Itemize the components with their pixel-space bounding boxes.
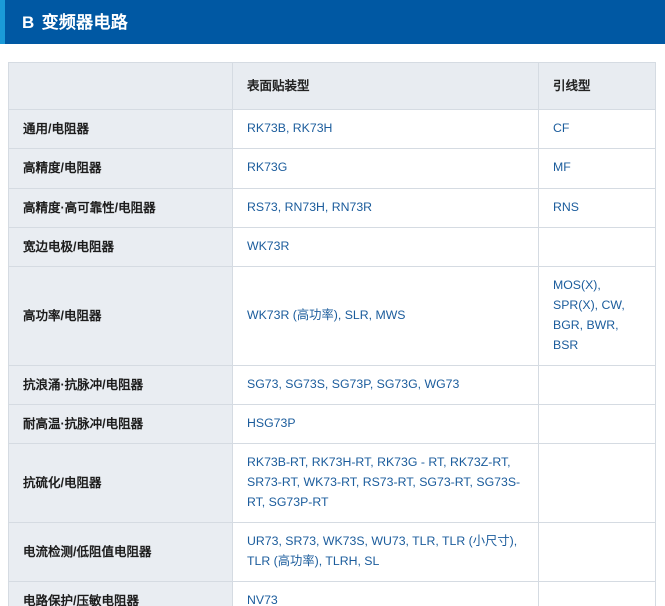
cell-leaded xyxy=(539,581,656,606)
row-category: 高功率/电阻器 xyxy=(9,267,233,366)
cell-leaded xyxy=(539,522,656,581)
column-header-smd: 表面贴装型 xyxy=(233,63,539,110)
row-category: 宽边电极/电阻器 xyxy=(9,227,233,266)
row-category: 抗硫化/电阻器 xyxy=(9,444,233,523)
table-row: 通用/电阻器 RK73B, RK73H CF xyxy=(9,110,656,149)
table-row: 宽边电极/电阻器 WK73R xyxy=(9,227,656,266)
cell-smd[interactable]: RK73B-RT, RK73H-RT, RK73G - RT, RK73Z-RT… xyxy=(233,444,539,523)
table-row: 电路保护/压敏电阻器 NV73 xyxy=(9,581,656,606)
cell-leaded[interactable]: CF xyxy=(539,110,656,149)
section-letter: B xyxy=(22,14,35,31)
cell-smd[interactable]: WK73R xyxy=(233,227,539,266)
row-category: 耐高温·抗脉冲/电阻器 xyxy=(9,404,233,443)
row-category: 电路保护/压敏电阻器 xyxy=(9,581,233,606)
table-row: 高精度/电阻器 RK73G MF xyxy=(9,149,656,188)
cell-leaded[interactable]: MF xyxy=(539,149,656,188)
cell-leaded xyxy=(539,444,656,523)
table-row: 抗浪涌·抗脉冲/电阻器 SG73, SG73S, SG73P, SG73G, W… xyxy=(9,365,656,404)
table-body: 通用/电阻器 RK73B, RK73H CF 高精度/电阻器 RK73G MF … xyxy=(9,110,656,606)
table-container: 表面贴装型 引线型 通用/电阻器 RK73B, RK73H CF 高精度/电阻器… xyxy=(0,44,665,606)
column-header-category xyxy=(9,63,233,110)
section-header: B 变频器电路 xyxy=(0,0,665,44)
row-category: 抗浪涌·抗脉冲/电阻器 xyxy=(9,365,233,404)
table-header-row: 表面贴装型 引线型 xyxy=(9,63,656,110)
row-category: 高精度·高可靠性/电阻器 xyxy=(9,188,233,227)
cell-leaded[interactable]: MOS(X), SPR(X), CW, BGR, BWR, BSR xyxy=(539,267,656,366)
cell-smd[interactable]: UR73, SR73, WK73S, WU73, TLR, TLR (小尺寸),… xyxy=(233,522,539,581)
column-header-leaded: 引线型 xyxy=(539,63,656,110)
cell-leaded xyxy=(539,227,656,266)
table-head: 表面贴装型 引线型 xyxy=(9,63,656,110)
cell-leaded xyxy=(539,404,656,443)
table-row: 高功率/电阻器 WK73R (高功率), SLR, MWS MOS(X), SP… xyxy=(9,267,656,366)
cell-smd[interactable]: RS73, RN73H, RN73R xyxy=(233,188,539,227)
parts-table: 表面贴装型 引线型 通用/电阻器 RK73B, RK73H CF 高精度/电阻器… xyxy=(8,62,656,606)
cell-smd[interactable]: RK73B, RK73H xyxy=(233,110,539,149)
row-category: 通用/电阻器 xyxy=(9,110,233,149)
cell-smd[interactable]: WK73R (高功率), SLR, MWS xyxy=(233,267,539,366)
table-row: 耐高温·抗脉冲/电阻器 HSG73P xyxy=(9,404,656,443)
table-row: 抗硫化/电阻器 RK73B-RT, RK73H-RT, RK73G - RT, … xyxy=(9,444,656,523)
cell-smd[interactable]: SG73, SG73S, SG73P, SG73G, WG73 xyxy=(233,365,539,404)
row-category: 电流检测/低阻值电阻器 xyxy=(9,522,233,581)
cell-leaded[interactable]: RNS xyxy=(539,188,656,227)
cell-leaded xyxy=(539,365,656,404)
cell-smd[interactable]: NV73 xyxy=(233,581,539,606)
table-row: 电流检测/低阻值电阻器 UR73, SR73, WK73S, WU73, TLR… xyxy=(9,522,656,581)
section-title-group: B 变频器电路 xyxy=(0,14,128,31)
table-row: 高精度·高可靠性/电阻器 RS73, RN73H, RN73R RNS xyxy=(9,188,656,227)
cell-smd[interactable]: RK73G xyxy=(233,149,539,188)
section-title: 变频器电路 xyxy=(42,14,129,31)
row-category: 高精度/电阻器 xyxy=(9,149,233,188)
accent-bar xyxy=(0,0,5,44)
cell-smd[interactable]: HSG73P xyxy=(233,404,539,443)
